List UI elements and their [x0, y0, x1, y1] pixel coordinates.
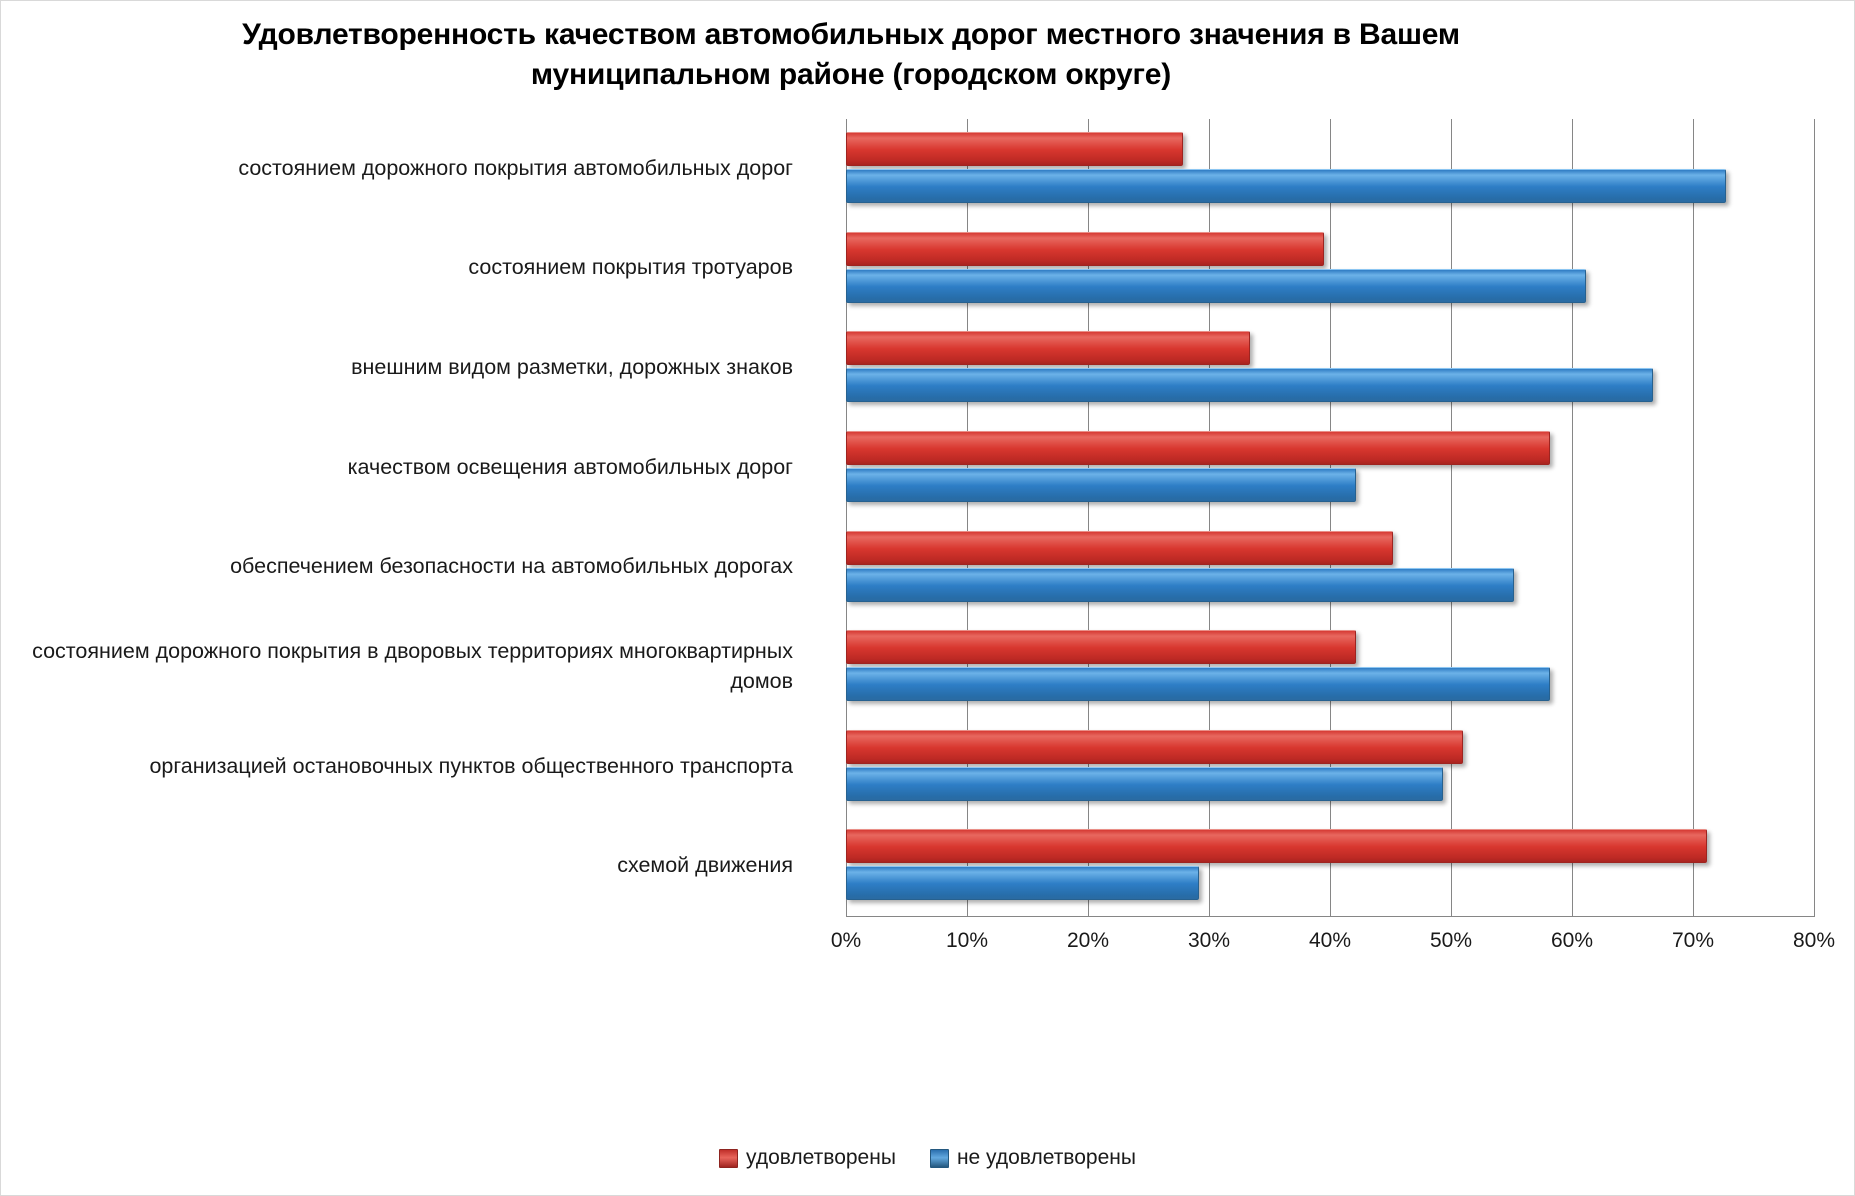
- chart-container: Удовлетворенность качеством автомобильны…: [0, 0, 1855, 1196]
- plot-area: [846, 119, 1814, 916]
- bar-not-satisfied[interactable]: [846, 568, 1514, 602]
- category-label: организацией остановочных пунктов общест…: [21, 752, 811, 782]
- x-tick-label: 40%: [1309, 929, 1351, 953]
- bar-satisfied[interactable]: [846, 531, 1393, 565]
- bar-group: [846, 418, 1814, 518]
- bar-satisfied[interactable]: [846, 630, 1356, 664]
- bar-not-satisfied[interactable]: [846, 368, 1653, 402]
- bar-satisfied[interactable]: [846, 331, 1250, 365]
- chart-title-line-2: муниципальном районе (городском округе): [151, 55, 1551, 95]
- chart-title: Удовлетворенность качеством автомобильны…: [151, 15, 1551, 95]
- category-axis-labels: состоянием дорожного покрытия автомобиль…: [21, 119, 811, 916]
- bar-satisfied[interactable]: [846, 829, 1707, 863]
- bar-not-satisfied[interactable]: [846, 866, 1199, 900]
- category-label: состоянием покрытия тротуаров: [21, 253, 811, 283]
- x-tick-label: 0%: [831, 929, 861, 953]
- x-axis-line: [846, 916, 1815, 917]
- bar-satisfied[interactable]: [846, 431, 1550, 465]
- bar-satisfied[interactable]: [846, 232, 1324, 266]
- bar-rows: [846, 119, 1814, 916]
- x-tick-label: 10%: [946, 929, 988, 953]
- legend-item[interactable]: не удовлетворены: [930, 1146, 1136, 1170]
- bar-not-satisfied[interactable]: [846, 767, 1443, 801]
- bar-not-satisfied[interactable]: [846, 468, 1356, 502]
- legend-swatch-satisfied-icon: [719, 1149, 738, 1168]
- bar-satisfied[interactable]: [846, 730, 1463, 764]
- bar-group: [846, 617, 1814, 717]
- chart-title-line-1: Удовлетворенность качеством автомобильны…: [151, 15, 1551, 55]
- bar-not-satisfied[interactable]: [846, 667, 1550, 701]
- x-tick-label: 20%: [1067, 929, 1109, 953]
- gridline-80pct: [1814, 119, 1815, 916]
- bar-group: [846, 816, 1814, 916]
- x-axis-tick-labels: 0%10%20%30%40%50%60%70%80%: [846, 929, 1814, 969]
- category-label: состоянием дорожного покрытия автомобиль…: [21, 154, 811, 184]
- bar-group: [846, 717, 1814, 817]
- bar-group: [846, 518, 1814, 618]
- x-tick-label: 60%: [1551, 929, 1593, 953]
- category-label: обеспечением безопасности на автомобильн…: [21, 552, 811, 582]
- bar-group: [846, 219, 1814, 319]
- legend-label: удовлетворены: [746, 1146, 896, 1170]
- legend-item[interactable]: удовлетворены: [719, 1146, 896, 1170]
- category-label: внешним видом разметки, дорожных знаков: [21, 353, 811, 383]
- x-tick-label: 50%: [1430, 929, 1472, 953]
- bar-not-satisfied[interactable]: [846, 169, 1726, 203]
- bar-group: [846, 318, 1814, 418]
- category-label: состоянием дорожного покрытия в дворовых…: [21, 637, 811, 696]
- x-tick-label: 30%: [1188, 929, 1230, 953]
- category-label: качеством освещения автомобильных дорог: [21, 453, 811, 483]
- bar-satisfied[interactable]: [846, 132, 1183, 166]
- chart-legend: удовлетвореныне удовлетворены: [1, 1146, 1854, 1170]
- x-tick-label: 80%: [1793, 929, 1835, 953]
- legend-swatch-not-satisfied-icon: [930, 1149, 949, 1168]
- x-tick-label: 70%: [1672, 929, 1714, 953]
- bar-not-satisfied[interactable]: [846, 269, 1586, 303]
- legend-label: не удовлетворены: [957, 1146, 1136, 1170]
- category-label: схемой движения: [21, 851, 811, 881]
- bar-group: [846, 119, 1814, 219]
